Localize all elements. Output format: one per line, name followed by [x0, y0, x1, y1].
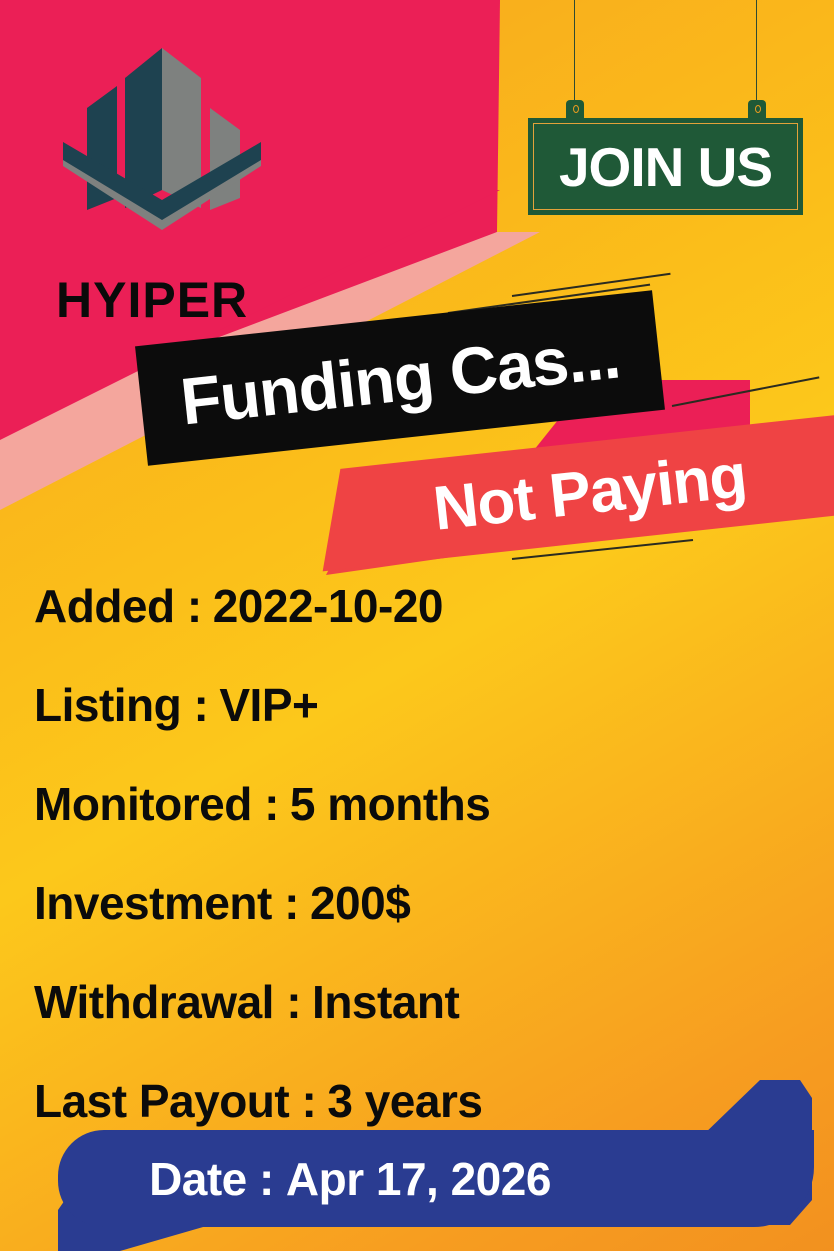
detail-value-added: 2022-10-20 — [213, 579, 443, 633]
detail-row-listing: Listing : VIP+ — [34, 655, 814, 754]
footer-date-value: Apr 17, 2026 — [286, 1152, 551, 1206]
footer-date: Date : Apr 17, 2026 — [0, 1138, 700, 1220]
detail-key-investment: Investment : — [34, 876, 299, 930]
program-name-label: Funding Cas... — [177, 316, 623, 439]
sign-hole-left — [573, 105, 579, 113]
detail-row-added: Added : 2022-10-20 — [34, 556, 814, 655]
detail-key-last-payout: Last Payout : — [34, 1074, 316, 1128]
detail-row-monitored: Monitored : 5 months — [34, 754, 814, 853]
footer-date-label: Date : — [149, 1152, 274, 1206]
building-tower-chevron-icon — [55, 38, 270, 238]
detail-key-withdrawal: Withdrawal : — [34, 975, 301, 1029]
status-label: Not Paying — [430, 440, 750, 544]
sign-string-left — [574, 0, 575, 108]
detail-row-withdrawal: Withdrawal : Instant — [34, 952, 814, 1051]
join-us-label: JOIN US — [559, 135, 772, 199]
brand-name: HYIPER — [56, 275, 248, 325]
brand-logo — [55, 38, 270, 238]
detail-value-listing: VIP+ — [219, 678, 318, 732]
details-list: Added : 2022-10-20 Listing : VIP+ Monito… — [34, 556, 814, 1150]
detail-value-monitored: 5 months — [290, 777, 490, 831]
detail-row-investment: Investment : 200$ — [34, 853, 814, 952]
detail-key-listing: Listing : — [34, 678, 208, 732]
hyip-listing-card: HYIPER JOIN US Funding Cas... Not Paying… — [0, 0, 834, 1251]
detail-key-added: Added : — [34, 579, 202, 633]
detail-row-last-payout: Last Payout : 3 years — [34, 1051, 814, 1150]
join-us-board[interactable]: JOIN US — [528, 118, 803, 215]
join-us-sign[interactable]: JOIN US — [528, 0, 808, 215]
sign-string-right — [756, 0, 757, 108]
detail-value-withdrawal: Instant — [312, 975, 459, 1029]
detail-value-last-payout: 3 years — [327, 1074, 482, 1128]
detail-key-monitored: Monitored : — [34, 777, 279, 831]
sign-hole-right — [755, 105, 761, 113]
detail-value-investment: 200$ — [310, 876, 410, 930]
